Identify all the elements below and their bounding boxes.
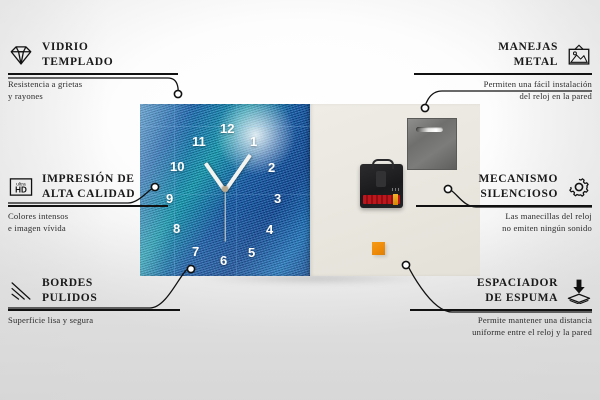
callout-title: BORDES PULIDOS (42, 276, 97, 305)
callout-mecanismo-silencioso: MECANISMO SILENCIOSO Las manecillas del … (402, 172, 592, 235)
callout-rule (8, 205, 168, 206)
infographic-canvas: 12 1 2 3 4 5 6 7 8 9 10 11 (0, 0, 600, 400)
callout-header: MANEJAS METAL (402, 40, 592, 69)
gear-icon (566, 174, 592, 200)
callout-description: Permiten una fácil instalación del reloj… (402, 78, 592, 103)
aa-battery (363, 195, 400, 204)
callout-espaciador-de-espuma: ESPACIADOR DE ESPUMA Permite mantener un… (402, 276, 592, 339)
callout-rule (410, 309, 592, 310)
clock-numeral-11: 11 (192, 135, 206, 148)
clock-numeral-7: 7 (192, 245, 199, 258)
callout-rule (8, 73, 178, 74)
clock-center-cap (222, 186, 228, 192)
callout-description: Resistencia a grietas y rayones (8, 78, 198, 103)
clock-numeral-2: 2 (268, 161, 275, 174)
hanger-keyhole-slot (416, 127, 443, 132)
clock-numeral-12: 12 (220, 122, 234, 135)
ultra-hd-icon: ultra HD (8, 174, 34, 200)
callout-description: Las manecillas del reloj no emiten ningú… (402, 210, 592, 235)
clock-numeral-6: 6 (220, 254, 227, 267)
callout-rule (416, 205, 592, 206)
clock-numeral-4: 4 (266, 223, 273, 236)
diamond-icon (8, 42, 34, 68)
callout-rule (414, 73, 592, 74)
callout-manejas-metal: MANEJAS METAL Permiten una fácil instala… (402, 40, 592, 103)
mechanism-hanger-loop (372, 159, 394, 169)
mechanism-shaft (376, 171, 386, 187)
polished-edges-icon (8, 278, 34, 304)
callout-title: MECANISMO SILENCIOSO (478, 172, 558, 201)
callout-header: VIDRIO TEMPLADO (8, 40, 198, 69)
callout-rule (8, 309, 180, 310)
clock-numeral-3: 3 (274, 192, 281, 205)
picture-frame-icon (566, 42, 592, 68)
callout-title: MANEJAS METAL (498, 40, 558, 69)
callout-header: ESPACIADOR DE ESPUMA (402, 276, 592, 305)
callout-vidrio-templado: VIDRIO TEMPLADO Resistencia a grietas y … (8, 40, 198, 103)
callout-description: Superficie lisa y segura (8, 314, 198, 326)
clock-second-hand (224, 190, 225, 242)
metal-hanger-plate (407, 118, 457, 170)
callout-bordes-pulidos: BORDES PULIDOS Superficie lisa y segura (8, 276, 198, 326)
callout-header: BORDES PULIDOS (8, 276, 198, 305)
callout-title: ESPACIADOR DE ESPUMA (477, 276, 558, 305)
callout-description: Permite mantener una distancia uniforme … (402, 314, 592, 339)
callout-header: MECANISMO SILENCIOSO (402, 172, 592, 201)
callout-title: IMPRESIÓN DE ALTA CALIDAD (42, 172, 135, 201)
mechanism-detail (392, 188, 400, 191)
clock-numeral-1: 1 (250, 135, 257, 148)
svg-text:HD: HD (15, 185, 27, 194)
foam-spacer-arrow-icon (566, 278, 592, 304)
callout-title: VIDRIO TEMPLADO (42, 40, 113, 69)
callout-description: Colores intensos e imagen vívida (8, 210, 198, 235)
callout-header: ultra HD IMPRESIÓN DE ALTA CALIDAD (8, 172, 198, 201)
callout-impresion-alta-calidad: ultra HD IMPRESIÓN DE ALTA CALIDAD Color… (8, 172, 198, 235)
quartz-mechanism-box (360, 164, 403, 208)
orange-foam-spacer (372, 242, 385, 255)
clock-numeral-5: 5 (248, 246, 255, 259)
